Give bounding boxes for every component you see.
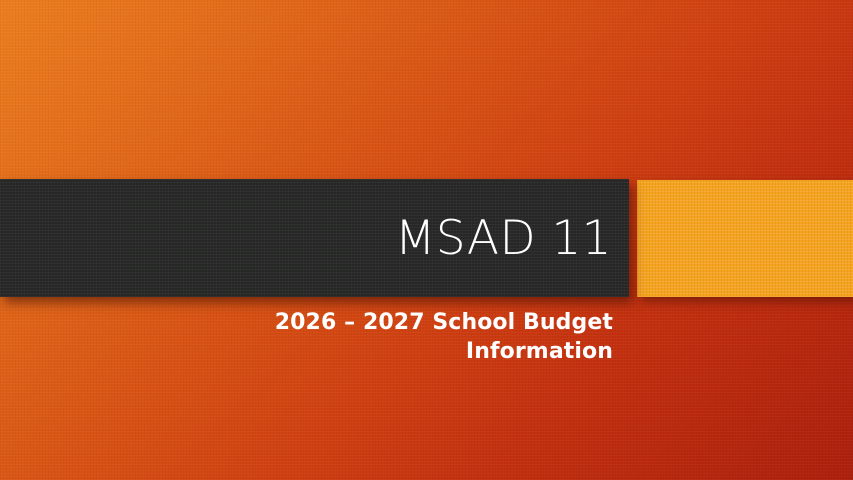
slide-subtitle-line-1: 2026 – 2027 School Budget <box>0 308 613 337</box>
title-banner: MSAD 11 <box>0 179 629 297</box>
presentation-title-slide: MSAD 11 2026 – 2027 School Budget Inform… <box>0 0 853 480</box>
slide-title: MSAD 11 <box>395 215 629 262</box>
slide-subtitle: 2026 – 2027 School Budget Information <box>0 308 613 366</box>
slide-subtitle-line-2: Information <box>0 337 613 366</box>
accent-rectangle-texture <box>637 180 853 297</box>
accent-rectangle <box>637 180 853 297</box>
